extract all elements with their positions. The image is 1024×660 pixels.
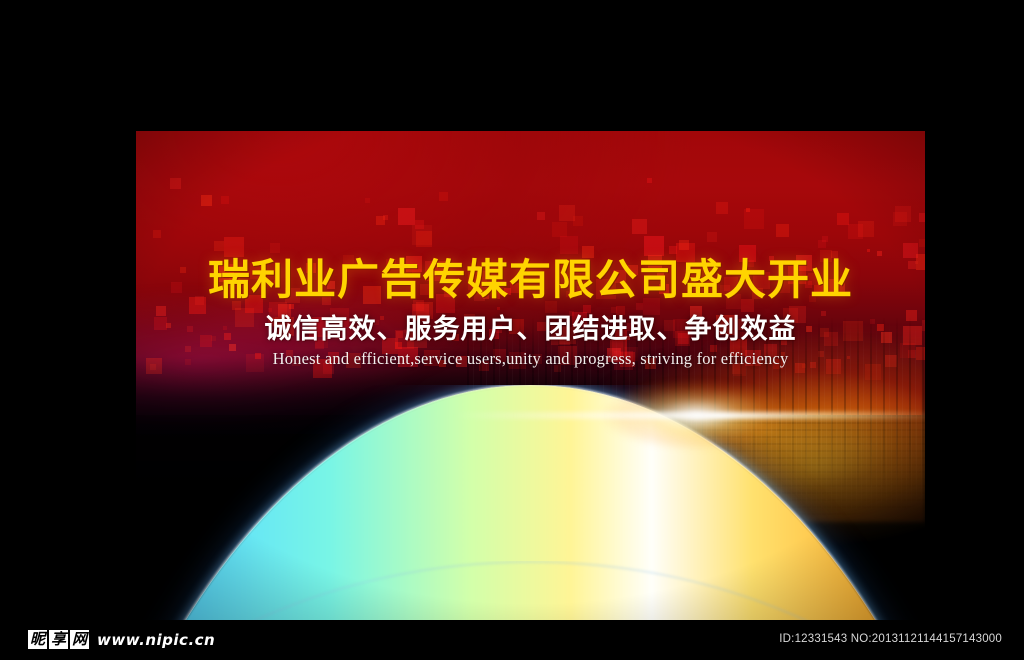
poster-artwork: 瑞利业广告传媒有限公司盛大开业 诚信高效、服务用户、团结进取、争创效益 Hone… [136, 131, 925, 620]
site-url-text[interactable]: www.nipic.cn [97, 631, 215, 649]
image-id-text: ID:12331543 NO:20131121144157143000 [779, 633, 1002, 645]
logo-char-3: 网 [70, 630, 89, 649]
footer-bar: 昵 享 网 www.nipic.cn ID:12331543 NO:201311… [0, 620, 1024, 660]
logo-char-1: 昵 [28, 630, 47, 649]
sun-flare-streak [452, 412, 925, 419]
poster-headline: 瑞利业广告传媒有限公司盛大开业 [136, 259, 925, 303]
site-watermark: 昵 享 网 www.nipic.cn [28, 630, 215, 649]
poster-text-block: 瑞利业广告传媒有限公司盛大开业 诚信高效、服务用户、团结进取、争创效益 Hone… [136, 259, 925, 369]
screenshot-canvas: 瑞利业广告传媒有限公司盛大开业 诚信高效、服务用户、团结进取、争创效益 Hone… [0, 0, 1024, 660]
poster-english-slogan: Honest and efficient,service users,unity… [136, 349, 925, 369]
poster-subline: 诚信高效、服务用户、团结进取、争创效益 [136, 313, 925, 347]
nipic-logo: 昵 享 网 [28, 630, 89, 649]
logo-char-2: 享 [49, 630, 68, 649]
